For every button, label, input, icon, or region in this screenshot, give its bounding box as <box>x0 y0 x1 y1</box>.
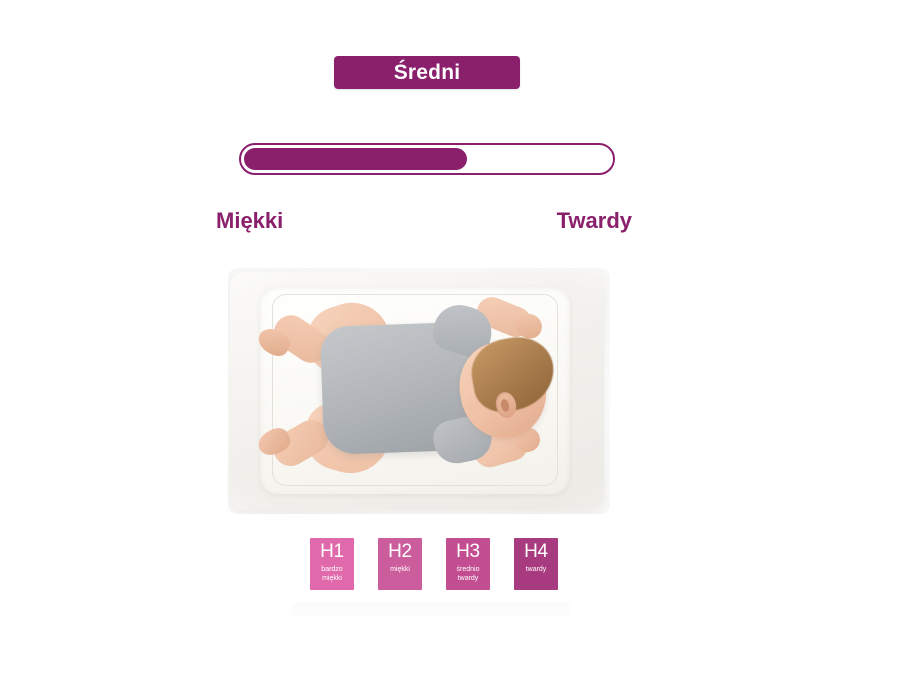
hardness-code: H2 <box>388 541 412 563</box>
hardness-legend-item-h4[interactable]: H4 twardy <box>514 538 558 590</box>
hardness-code: H3 <box>456 541 480 563</box>
firmness-slider-track[interactable] <box>239 143 615 175</box>
hardness-desc: średnio twardy <box>457 565 480 583</box>
hardness-desc: bardzo miękki <box>321 565 342 583</box>
hardness-code: H4 <box>524 541 548 563</box>
hardness-legend-item-h2[interactable]: H2 miękki <box>378 538 422 590</box>
hardness-legend: H1 bardzo miękki H2 miękki H3 średnio tw… <box>310 538 558 590</box>
photo-reflection <box>292 602 570 624</box>
hardness-desc: miękki <box>390 565 410 574</box>
firmness-max-label: Twardy <box>557 210 632 232</box>
firmness-title-label: Średni <box>394 62 461 83</box>
product-photo <box>228 268 610 514</box>
firmness-slider-fill <box>244 148 467 170</box>
hardness-desc: twardy <box>526 565 547 574</box>
hardness-legend-item-h1[interactable]: H1 bardzo miękki <box>310 538 354 590</box>
firmness-scale-labels: Miękki Twardy <box>216 210 632 232</box>
baby-figure <box>228 268 610 514</box>
hardness-code: H1 <box>320 541 344 563</box>
firmness-min-label: Miękki <box>216 210 283 232</box>
firmness-title-badge: Średni <box>334 56 520 89</box>
hardness-legend-item-h3[interactable]: H3 średnio twardy <box>446 538 490 590</box>
